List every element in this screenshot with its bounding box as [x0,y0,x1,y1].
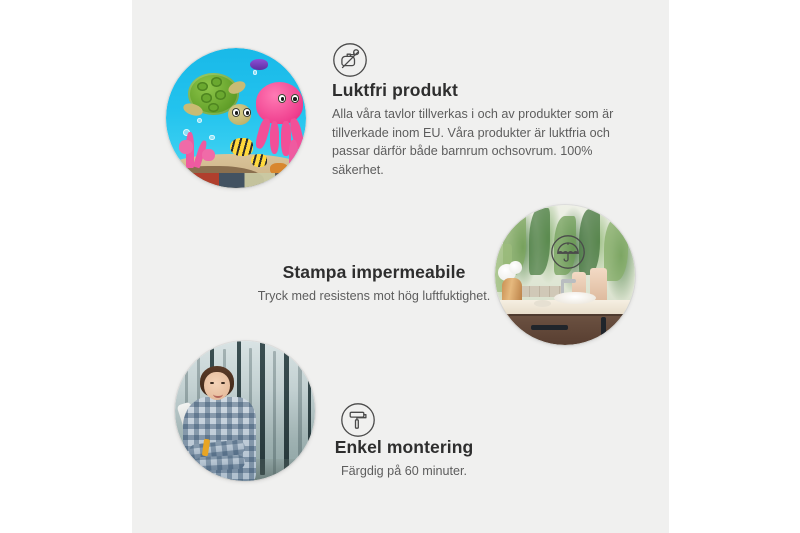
feature-title: Luktfri produkt [332,80,628,100]
no-odour-spray-icon [332,42,368,78]
feature-description: Färgdig på 60 minuter. [192,462,616,481]
product-feature-infographic: Luktfri produkt Alla våra tavlor tillver… [0,0,800,533]
feature-text-easy-mounting: Enkel montering Färgdig på 60 minuter. [192,437,616,481]
feature-title: Stampa impermeabile [132,262,616,282]
feature-description: Tryck med resistens mot hög luftfuktighe… [132,287,616,306]
feature-title: Enkel montering [192,437,616,457]
feature-description: Alla våra tavlor tillverkas i och av pro… [332,105,628,180]
infographic-panel: Luktfri produkt Alla våra tavlor tillver… [132,0,669,533]
feature-text-odourless: Luktfri produkt Alla våra tavlor tillver… [332,80,628,180]
paint-roller-icon [340,402,376,438]
feature-text-waterproof: Stampa impermeabile Tryck med resistens … [132,262,616,306]
underwater-illustration [166,48,306,188]
feature-image-underwater-cartoon-mural [166,48,306,188]
